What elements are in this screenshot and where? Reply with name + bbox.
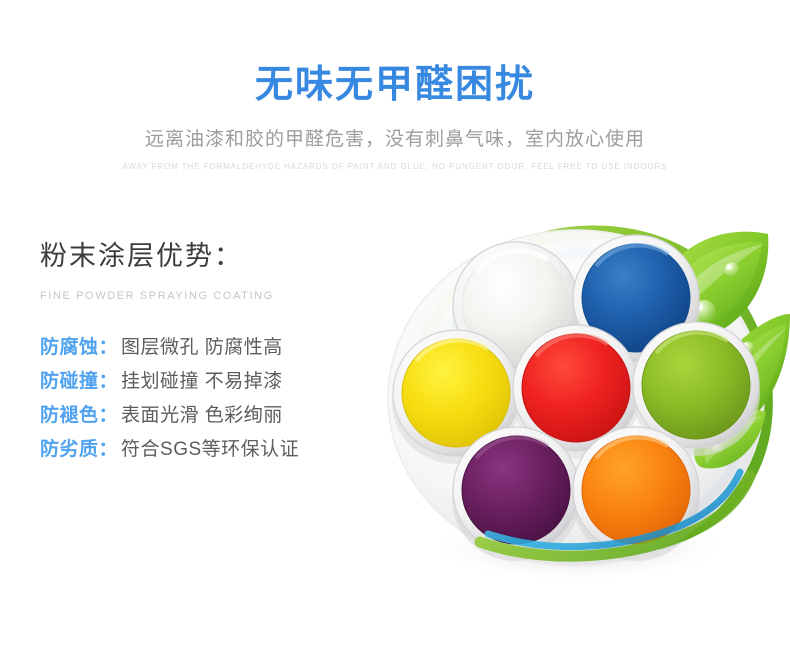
powder-jars-illustration: [368, 190, 790, 600]
feature-text: 图层微孔 防腐性高: [121, 332, 283, 359]
feature-label: 防腐蚀：: [40, 332, 118, 359]
section-heading: 粉末涂层优势：: [40, 240, 370, 274]
feature-label: 防碰撞：: [40, 366, 118, 393]
page-subtitle: 远离油漆和胶的甲醛危害，没有刺鼻气味，室内放心使用: [0, 124, 790, 151]
feature-text: 表面光滑 色彩绚丽: [121, 400, 283, 427]
banner-header: 无味无甲醛困扰 远离油漆和胶的甲醛危害，没有刺鼻气味，室内放心使用 AWAY F…: [0, 0, 790, 171]
list-item: 防腐蚀： 图层微孔 防腐性高: [40, 332, 370, 366]
list-item: 防碰撞： 挂划碰撞 不易掉漆: [40, 366, 370, 400]
feature-text: 符合SGS等环保认证: [121, 434, 299, 461]
product-feature-banner: 无味无甲醛困扰 远离油漆和胶的甲醛危害，没有刺鼻气味，室内放心使用 AWAY F…: [0, 0, 790, 653]
feature-label: 防褪色：: [40, 400, 118, 427]
list-item: 防褪色： 表面光滑 色彩绚丽: [40, 400, 370, 434]
water-droplet: [725, 263, 740, 278]
section-heading-english: FINE POWDER SPRAYING COATING: [40, 290, 370, 302]
page-title: 无味无甲醛困扰: [0, 64, 790, 108]
features-section: 粉末涂层优势： FINE POWDER SPRAYING COATING 防腐蚀…: [40, 240, 370, 468]
page-english-caption: AWAY FROM THE FORMALDEHYDE HAZARDS OF PA…: [0, 162, 790, 171]
feature-list: 防腐蚀： 图层微孔 防腐性高 防碰撞： 挂划碰撞 不易掉漆 防褪色： 表面光滑 …: [40, 332, 370, 468]
list-item: 防劣质： 符合SGS等环保认证: [40, 434, 370, 468]
feature-text: 挂划碰撞 不易掉漆: [121, 366, 283, 393]
feature-label: 防劣质：: [40, 434, 118, 461]
